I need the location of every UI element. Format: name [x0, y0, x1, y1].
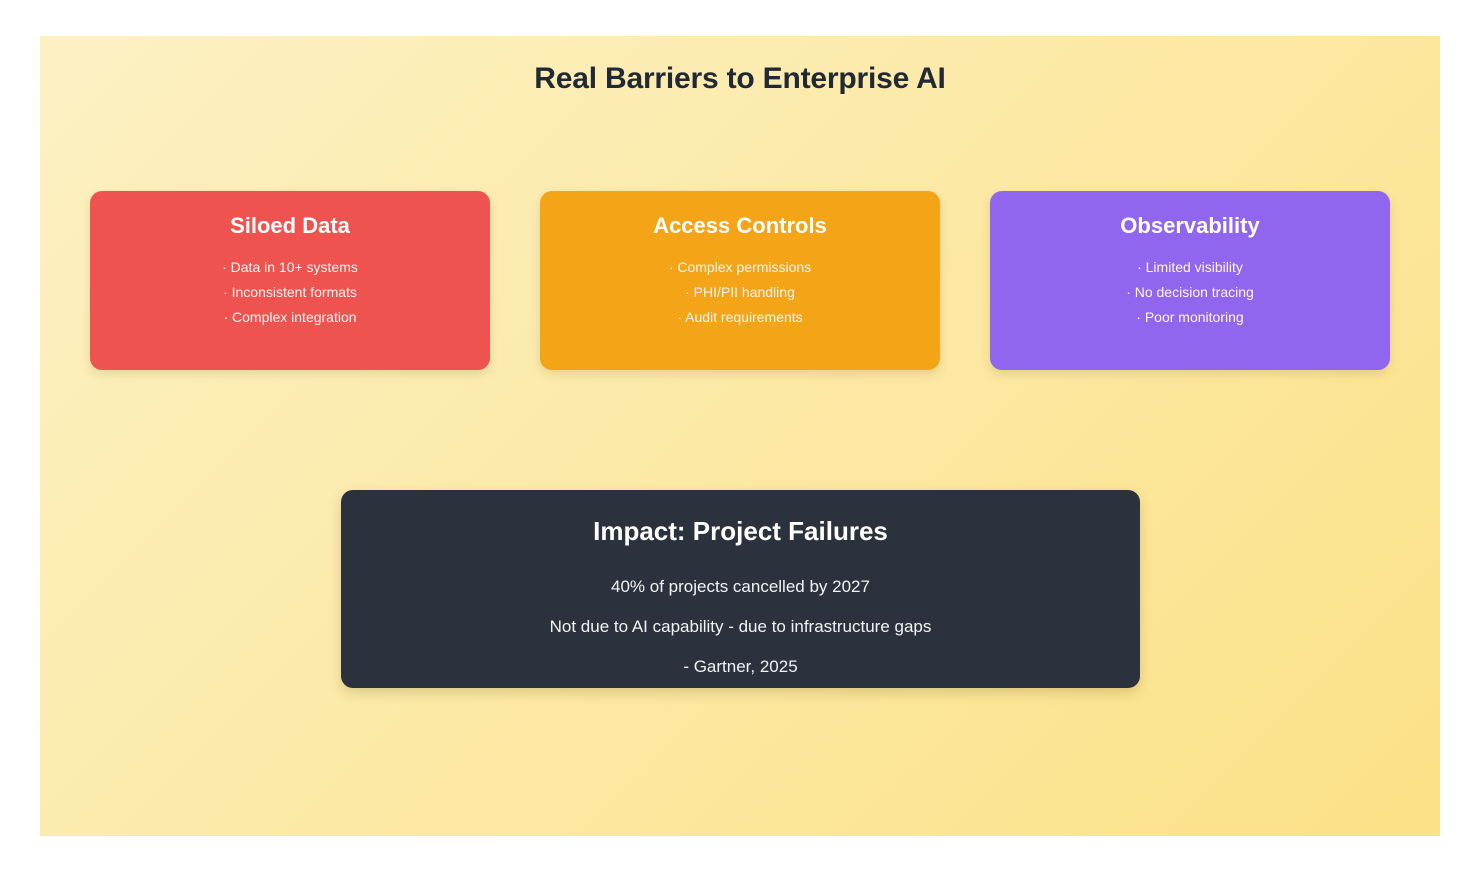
impact-explanation: Not due to AI capability - due to infras… — [341, 607, 1140, 647]
barrier-card-access-controls[interactable]: Access Controls · Complex permissions · … — [540, 191, 940, 370]
list-item: · Data in 10+ systems — [90, 255, 490, 280]
impact-attribution: - Gartner, 2025 — [341, 647, 1140, 687]
list-item: · Audit requirements — [540, 305, 940, 330]
barrier-bullet-list: · Data in 10+ systems · Inconsistent for… — [90, 255, 490, 330]
list-item: · Complex integration — [90, 305, 490, 330]
barrier-card-row: Siloed Data · Data in 10+ systems · Inco… — [90, 191, 1390, 370]
impact-statistic: 40% of projects cancelled by 2027 — [341, 567, 1140, 607]
list-item: · Complex permissions — [540, 255, 940, 280]
barrier-card-title: Observability — [990, 211, 1390, 241]
slide-canvas: Real Barriers to Enterprise AI Siloed Da… — [40, 36, 1440, 836]
impact-callout-box: Impact: Project Failures 40% of projects… — [341, 490, 1140, 688]
list-item: · Limited visibility — [990, 255, 1390, 280]
list-item: · Poor monitoring — [990, 305, 1390, 330]
barrier-card-siloed-data[interactable]: Siloed Data · Data in 10+ systems · Inco… — [90, 191, 490, 370]
impact-title: Impact: Project Failures — [341, 514, 1140, 548]
list-item: · No decision tracing — [990, 280, 1390, 305]
list-item: · Inconsistent formats — [90, 280, 490, 305]
barrier-card-observability[interactable]: Observability · Limited visibility · No … — [990, 191, 1390, 370]
barrier-bullet-list: · Complex permissions · PHI/PII handling… — [540, 255, 940, 330]
page-title: Real Barriers to Enterprise AI — [40, 62, 1440, 96]
barrier-card-title: Access Controls — [540, 211, 940, 241]
barrier-bullet-list: · Limited visibility · No decision traci… — [990, 255, 1390, 330]
barrier-card-title: Siloed Data — [90, 211, 490, 241]
list-item: · PHI/PII handling — [540, 280, 940, 305]
